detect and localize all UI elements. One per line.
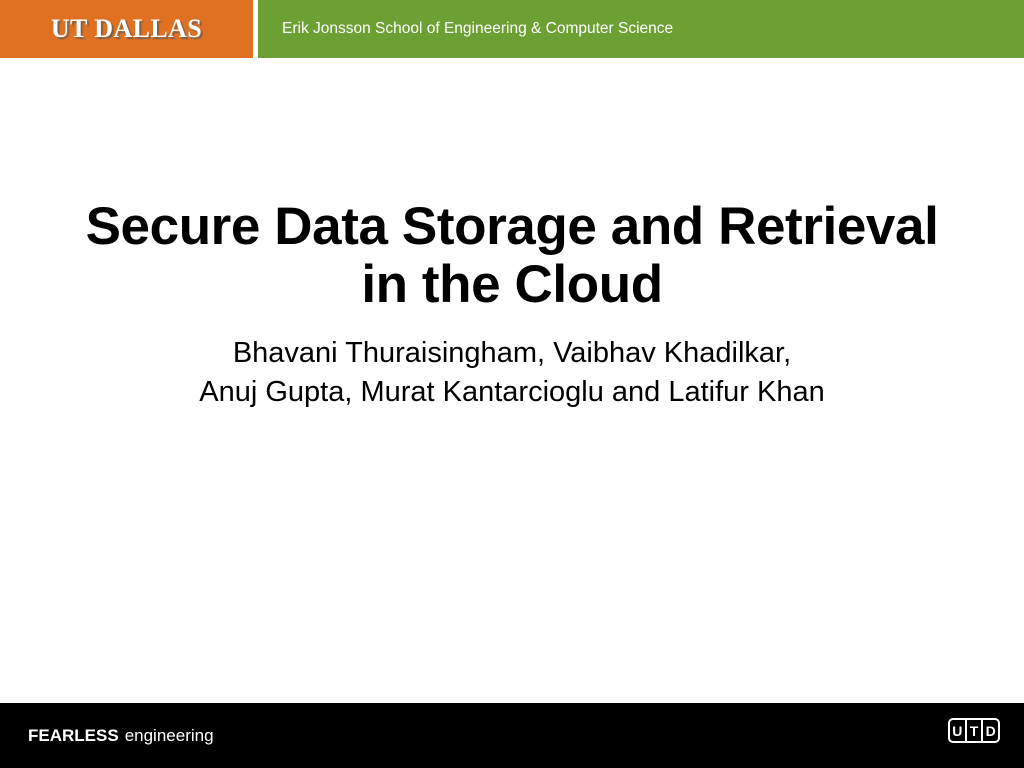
slide-footer: FEARLESS engineering — [0, 703, 1024, 768]
utd-logo-letter-u: U — [950, 720, 965, 741]
slide-title: Secure Data Storage and Retrieval in the… — [62, 198, 962, 314]
slide-content: Secure Data Storage and Retrieval in the… — [0, 58, 1024, 703]
ut-dallas-wordmark: UT DALLAS — [0, 0, 253, 58]
engineering-word: engineering — [125, 726, 214, 746]
slide-authors: Bhavani Thuraisingham, Vaibhav Khadilkar… — [62, 334, 962, 412]
presentation-slide: UT DALLAS Erik Jonsson School of Enginee… — [0, 0, 1024, 768]
slide-title-line-2: in the Cloud — [62, 256, 962, 314]
slide-authors-line-1: Bhavani Thuraisingham, Vaibhav Khadilkar… — [62, 334, 962, 373]
ut-dallas-brand-bar: UT DALLAS — [0, 0, 253, 58]
school-name-label: Erik Jonsson School of Engineering & Com… — [282, 0, 673, 58]
slide-authors-line-2: Anuj Gupta, Murat Kantarcioglu and Latif… — [62, 373, 962, 412]
school-name-bar: Erik Jonsson School of Engineering & Com… — [258, 0, 1024, 58]
slide-title-line-1: Secure Data Storage and Retrieval — [62, 198, 962, 256]
utd-logo-letter-d: D — [981, 720, 998, 741]
utd-logo-icon: U T D — [948, 718, 1000, 743]
utd-logo-letter-t: T — [965, 720, 982, 741]
fearless-word: FEARLESS — [28, 726, 119, 746]
slide-header: UT DALLAS Erik Jonsson School of Enginee… — [0, 0, 1024, 58]
fearless-engineering-tagline: FEARLESS engineering — [28, 703, 214, 768]
